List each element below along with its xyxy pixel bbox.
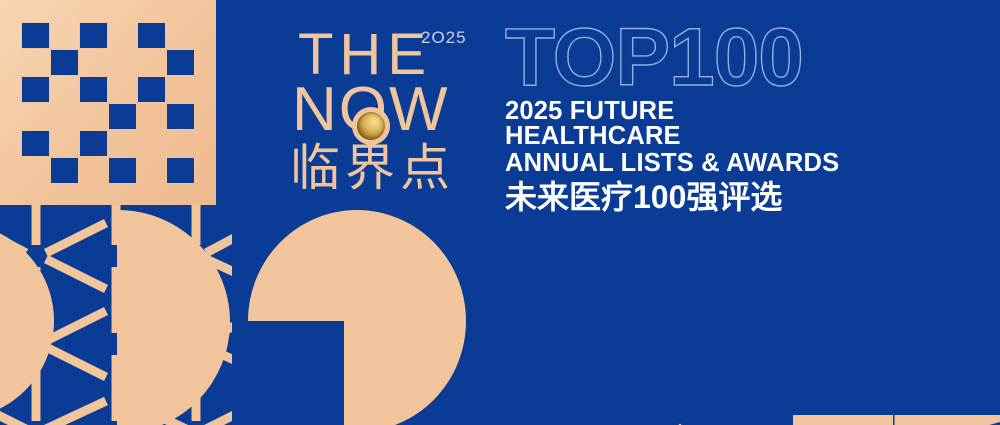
checker-cell-0-0	[21, 22, 50, 49]
checker-cell-2-2	[79, 76, 108, 103]
checker-cell-4-3	[108, 130, 137, 157]
checker-cell-5-1	[50, 157, 79, 184]
checker-cell-2-0	[21, 76, 50, 103]
logo-chinese-text: 临界点	[290, 142, 455, 194]
checker-cell-3-0	[21, 103, 50, 130]
checker-cell-1-0	[21, 49, 50, 76]
checker-cell-5-4	[137, 157, 166, 184]
checkerboard-grid	[21, 22, 195, 184]
checker-cell-3-4	[137, 103, 166, 130]
checker-cell-0-2	[79, 22, 108, 49]
checker-cell-5-2	[79, 157, 108, 184]
checker-cell-0-4	[137, 22, 166, 49]
checker-cell-4-0	[21, 130, 50, 157]
checker-cell-4-5	[166, 130, 195, 157]
checker-cell-1-5	[166, 49, 195, 76]
notched-circle-svg	[248, 210, 466, 425]
checker-cell-3-5	[166, 103, 195, 130]
headline-english-line1: 2025 FUTURE HEALTHCARE	[505, 99, 845, 149]
checker-cell-0-1	[50, 22, 79, 49]
checker-cell-5-5	[166, 157, 195, 184]
checker-cell-3-3	[108, 103, 137, 130]
checkerboard-panel	[0, 0, 216, 205]
checker-cell-0-3	[108, 22, 137, 49]
decorative-band	[0, 205, 1000, 425]
logo-block: THE 2O25 NOW 临界点	[290, 24, 490, 184]
checker-cell-1-3	[108, 49, 137, 76]
checker-cell-2-4	[137, 76, 166, 103]
checker-cell-4-2	[79, 130, 108, 157]
banner-root: THE 2O25 NOW 临界点 TOP100 2025 FUTURE HEAL…	[0, 0, 1000, 425]
checker-cell-4-1	[50, 130, 79, 157]
diagonal-stripes-block	[786, 410, 1000, 425]
checker-cell-1-4	[137, 49, 166, 76]
checker-cell-0-5	[166, 22, 195, 49]
checker-cell-2-3	[108, 76, 137, 103]
checker-cell-5-0	[21, 157, 50, 184]
checker-cell-3-1	[50, 103, 79, 130]
checker-cell-1-2	[79, 49, 108, 76]
checker-cell-1-1	[50, 49, 79, 76]
logo-year-text: 2O25	[421, 28, 467, 48]
top100-outline-text: TOP100	[505, 18, 845, 98]
notched-circle-shape	[248, 210, 466, 425]
diagonal-stripes-svg	[786, 410, 1000, 425]
checker-cell-2-5	[166, 76, 195, 103]
checker-cell-3-2	[79, 103, 108, 130]
headline-block: TOP100 2025 FUTURE HEALTHCARE ANNUAL LIS…	[505, 18, 845, 193]
checker-cell-2-1	[50, 76, 79, 103]
headline-english-line2: ANNUAL LISTS & AWARDS	[505, 151, 845, 176]
checker-cell-5-3	[108, 157, 137, 184]
checker-cell-4-4	[137, 130, 166, 157]
